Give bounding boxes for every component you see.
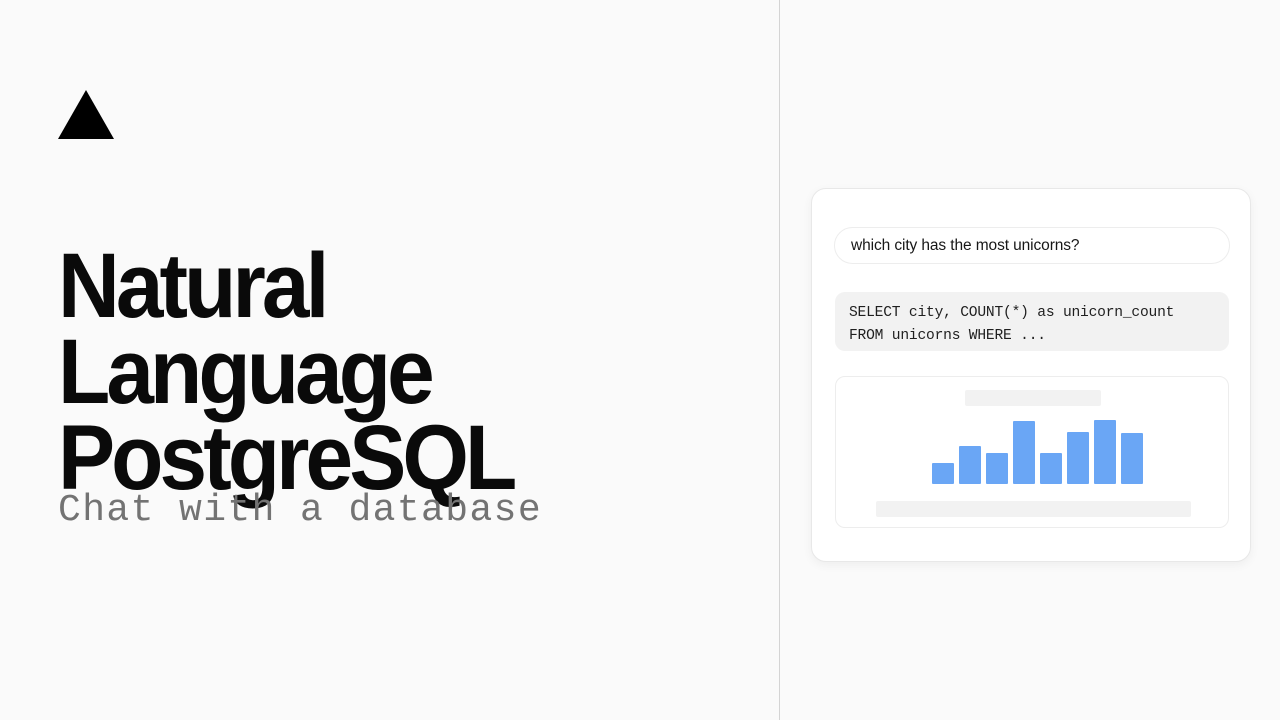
hero-pane: Natural Language PostgreSQL Chat with a …	[0, 0, 780, 720]
chart-bar	[1067, 432, 1089, 484]
page-subtitle: Chat with a database	[58, 488, 542, 534]
preview-card: which city has the most unicorns? SELECT…	[811, 188, 1251, 562]
chart-bar	[1094, 420, 1116, 484]
sql-code-block: SELECT city, COUNT(*) as unicorn_count F…	[835, 292, 1229, 351]
chart-bar	[959, 446, 981, 484]
search-input[interactable]: which city has the most unicorns?	[834, 227, 1230, 264]
chart-bar	[932, 463, 954, 484]
chart-bar	[986, 453, 1008, 484]
chart-bar	[1121, 433, 1143, 484]
search-input-value: which city has the most unicorns?	[851, 237, 1079, 255]
chart-bar	[1013, 421, 1035, 484]
chart-card	[835, 376, 1229, 528]
sql-code-text: SELECT city, COUNT(*) as unicorn_count F…	[849, 302, 1215, 348]
chart-axis-placeholder	[876, 501, 1191, 517]
triangle-logo-icon	[58, 90, 114, 139]
preview-pane: which city has the most unicorns? SELECT…	[780, 0, 1280, 720]
app-screen: Natural Language PostgreSQL Chat with a …	[0, 0, 1280, 720]
page-title: Natural Language PostgreSQL	[58, 243, 709, 501]
chart-bar	[1040, 453, 1062, 484]
